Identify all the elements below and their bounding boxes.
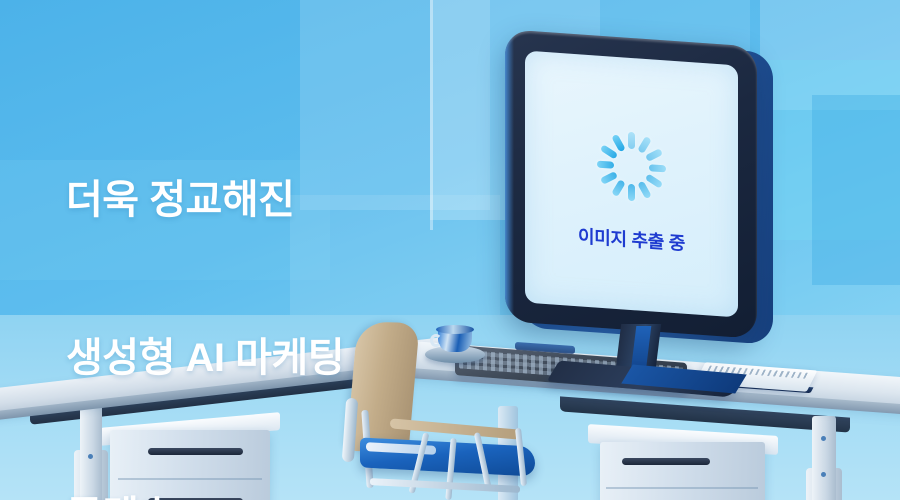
spinner-segment xyxy=(637,180,652,198)
page-title: 더욱 정교해진 생성형 AI 마케팅 콘텐츠 xyxy=(66,68,344,500)
spinner-segment xyxy=(628,183,635,200)
background-divider-line xyxy=(430,0,433,230)
spinner-segment xyxy=(611,133,626,151)
spinner-segment xyxy=(645,148,663,162)
screen-status-text: 이미지 추출 중 xyxy=(525,219,738,260)
drawer-handle xyxy=(622,458,710,465)
banner-illustration: 더욱 정교해진 생성형 AI 마케팅 콘텐츠 이미지 추출 중 xyxy=(0,0,900,500)
right-cabinet xyxy=(600,442,765,500)
background-panel xyxy=(760,0,900,110)
drawer-divider xyxy=(606,487,758,489)
headline-line-3: 콘텐츠 xyxy=(66,490,344,500)
chair-backrest xyxy=(346,321,419,453)
headline-line-1: 더욱 정교해진 xyxy=(66,174,344,227)
background-panel xyxy=(812,95,900,285)
spinner-segment xyxy=(597,160,614,168)
headline-line-2: 생성형 AI 마케팅 xyxy=(66,332,344,385)
chair-back-frame xyxy=(342,398,358,463)
spinner-segment xyxy=(611,179,626,197)
chair-frame-bar xyxy=(370,478,520,493)
spinner-segment xyxy=(649,164,666,172)
spinner-segment xyxy=(628,131,635,148)
spinner-segment xyxy=(645,173,663,188)
leg-screw xyxy=(821,472,826,477)
office-chair xyxy=(330,320,560,500)
leg-screw xyxy=(821,436,826,441)
spinner-segment xyxy=(600,171,618,185)
spinner-segment xyxy=(637,135,652,153)
monitor-screen: 이미지 추출 중 xyxy=(525,51,738,318)
desk-leg xyxy=(812,416,836,500)
spinner-icon xyxy=(595,126,669,205)
computer-monitor: 이미지 추출 중 xyxy=(505,38,767,334)
